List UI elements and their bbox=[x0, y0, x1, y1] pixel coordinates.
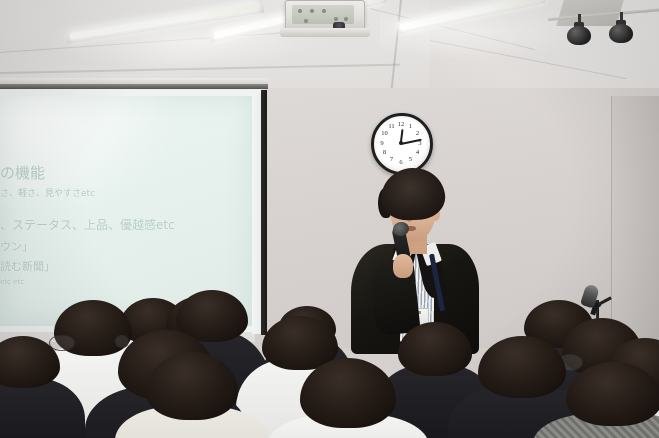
audience-member-10 bbox=[300, 358, 396, 438]
ceiling-light-glow bbox=[380, 0, 600, 60]
clock-numeral: 4 bbox=[412, 149, 422, 156]
audience-member-head bbox=[0, 336, 60, 388]
audience-member-1 bbox=[0, 336, 60, 438]
slide-text-line: etc etc bbox=[0, 278, 24, 286]
slide-text-line: さ、軽さ、見やすさetc bbox=[0, 186, 95, 199]
wall-clock: 121234567891011 bbox=[371, 113, 433, 175]
clock-center-pivot bbox=[399, 141, 403, 145]
clock-numeral: 1 bbox=[406, 123, 416, 130]
projector-front-bezel bbox=[280, 28, 370, 37]
clock-numeral: 6 bbox=[396, 159, 406, 166]
clock-numeral: 9 bbox=[377, 140, 387, 147]
track-spotlight-right bbox=[609, 24, 633, 43]
clock-numeral: 7 bbox=[387, 156, 397, 163]
audience-member-6 bbox=[146, 352, 238, 438]
audience-member-head bbox=[146, 352, 238, 420]
clock-numeral: 12 bbox=[396, 121, 406, 128]
ceiling-light-glow bbox=[40, 10, 320, 70]
presenter-hand bbox=[393, 254, 413, 278]
audience-member-head bbox=[300, 358, 396, 428]
track-spotlight-left bbox=[567, 26, 591, 45]
slide-text-line: 、ステータス、上品、優越感etc bbox=[0, 216, 175, 233]
slide-text-line: の機能 bbox=[0, 162, 45, 183]
audience-member-16 bbox=[566, 362, 659, 438]
clock-numeral: 8 bbox=[380, 149, 390, 156]
right-wall bbox=[612, 96, 659, 346]
slide-text-line: ウン」 bbox=[0, 238, 33, 254]
clock-numeral: 10 bbox=[380, 130, 390, 137]
slide-text-line: 読む新聞」 bbox=[0, 258, 55, 274]
audience-member-head bbox=[398, 322, 472, 376]
clock-numeral: 11 bbox=[387, 123, 397, 130]
projector-vent bbox=[292, 5, 354, 24]
audience-member-head bbox=[478, 336, 566, 398]
wall-corner-edge bbox=[611, 96, 612, 346]
audience-member-head bbox=[566, 362, 659, 426]
presenter-hair bbox=[380, 166, 447, 221]
clock-numeral: 2 bbox=[412, 130, 422, 137]
clock-numeral: 5 bbox=[406, 156, 416, 163]
screen-dark-edge bbox=[261, 90, 267, 335]
presentation-photo: の機能さ、軽さ、見やすさetc、ステータス、上品、優越感etcウン」読む新聞」e… bbox=[0, 0, 659, 438]
